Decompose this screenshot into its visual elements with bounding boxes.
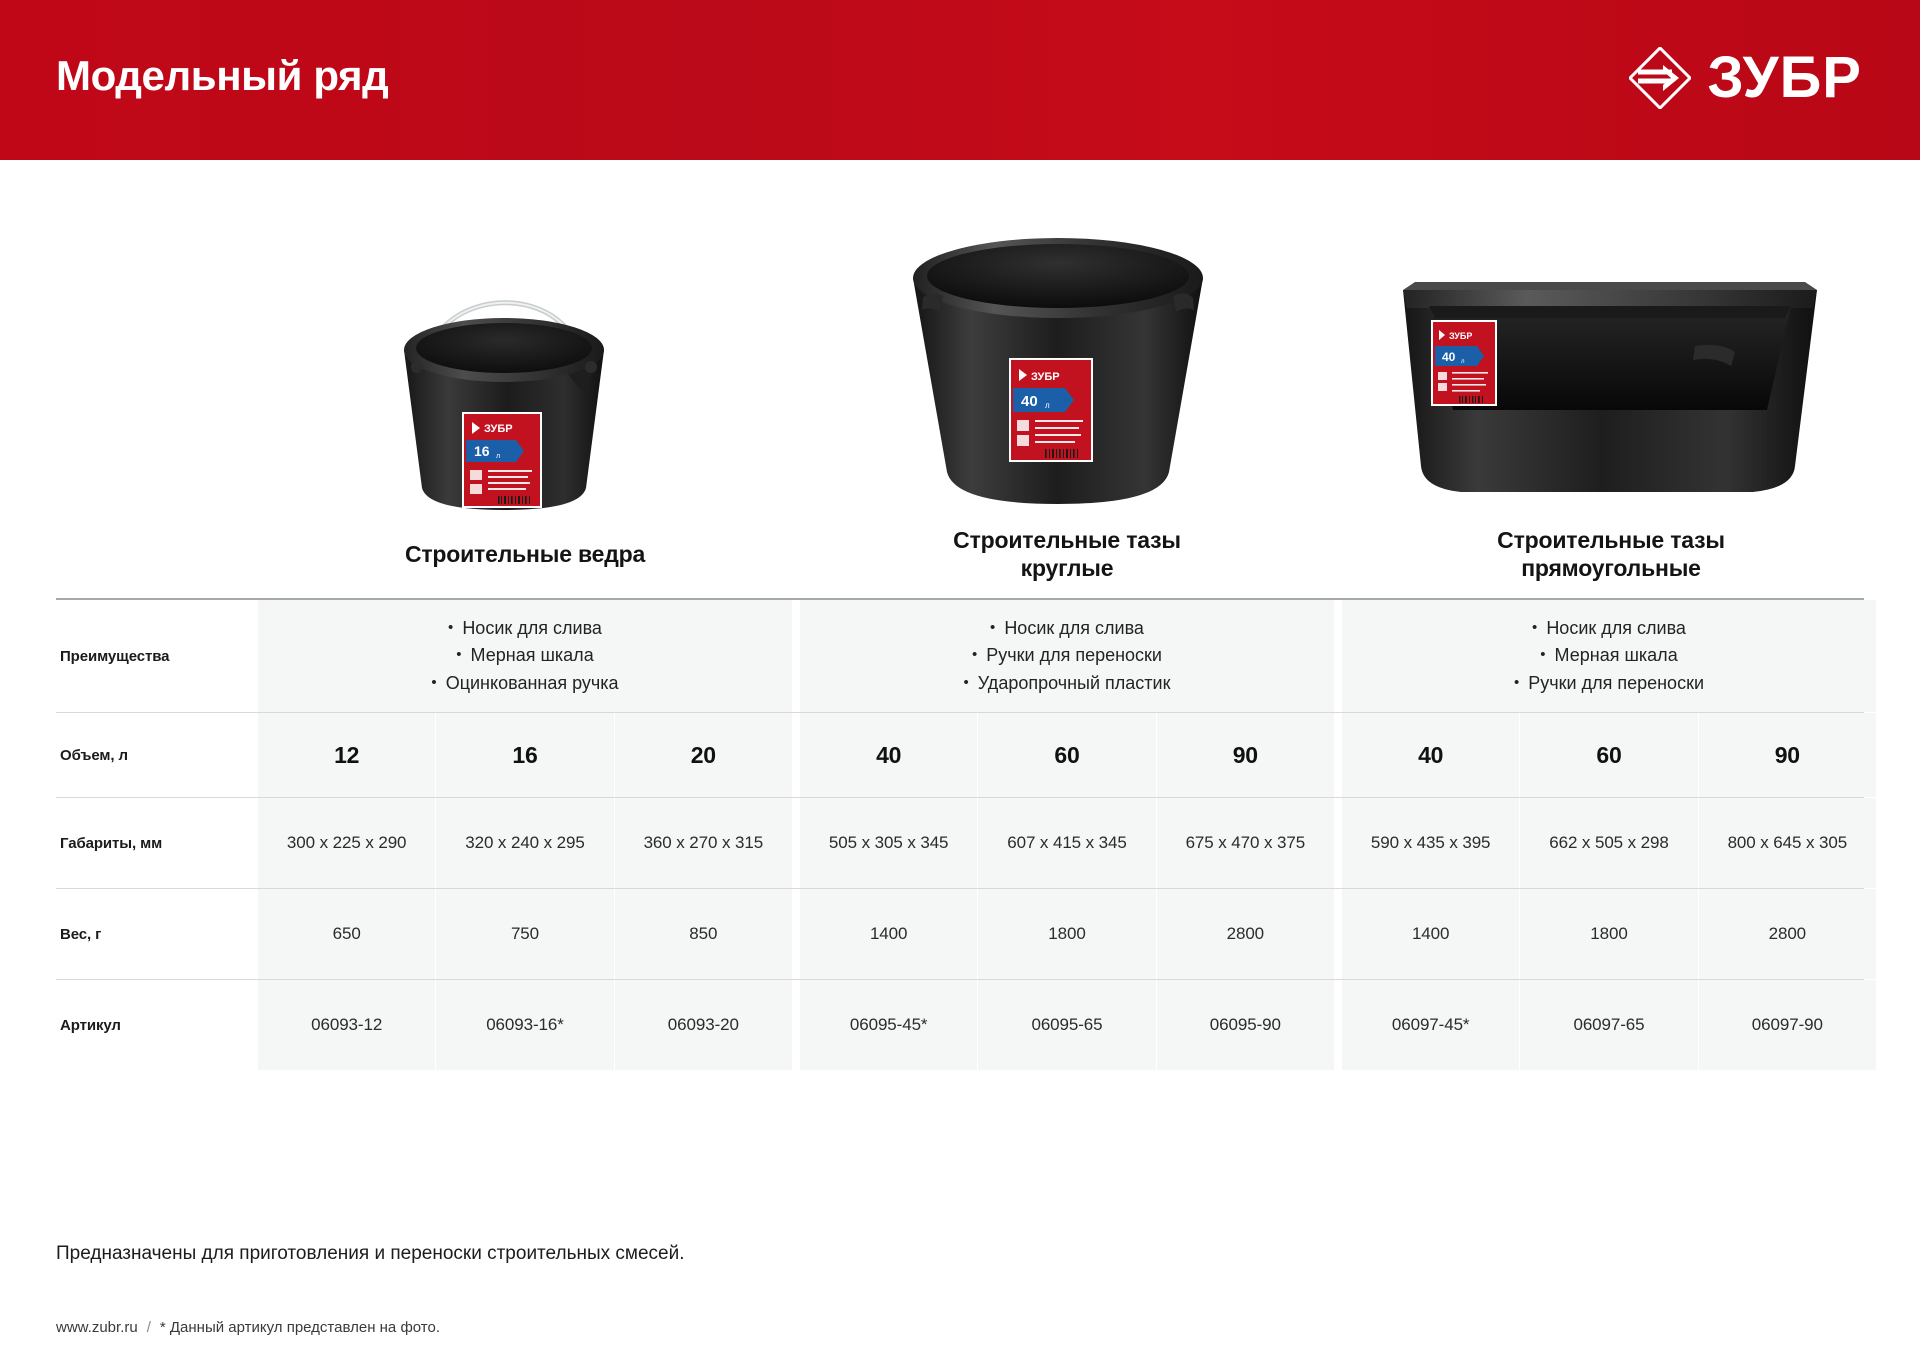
volume-value: 12 — [334, 742, 359, 769]
article-cell: 06095-45* — [800, 980, 977, 1070]
advantage-item: Оцинкованная ручка — [431, 670, 618, 697]
advantage-item: Носик для слива — [1514, 615, 1704, 642]
svg-text:л: л — [1045, 401, 1050, 410]
product-image-bucket: ЗУБР 16 л — [255, 160, 785, 520]
dimensions-cell: 360 x 270 x 315 — [614, 798, 792, 888]
footer-note: Предназначены для приготовления и перено… — [56, 1243, 684, 1265]
advantage-item: Ручки для переноски — [964, 642, 1171, 669]
weight-cell: 1400 — [800, 889, 977, 979]
group-cells-buckets: 650 750 850 — [258, 889, 792, 979]
article-value: 06097-65 — [1573, 1015, 1644, 1035]
article-value: 06095-65 — [1031, 1015, 1102, 1035]
row-label-dimensions: Габариты, мм — [56, 798, 258, 888]
volume-cell: 16 — [435, 713, 613, 797]
advantages-list: Носик для слива Мерная шкала Оцинкованна… — [431, 615, 618, 697]
weight-value: 1400 — [1412, 924, 1449, 944]
weight-cell: 750 — [435, 889, 613, 979]
group-title-line1: Строительные тазы — [1344, 526, 1878, 554]
weight-value: 850 — [689, 924, 717, 944]
weight-value: 750 — [511, 924, 539, 944]
product-image-strip: ЗУБР 16 л — [0, 160, 1920, 520]
zubr-diamond-logo-icon — [1629, 47, 1691, 109]
article-cell: 06093-20 — [614, 980, 792, 1070]
group-title-round-basins: Строительные тазы круглые — [800, 526, 1334, 582]
article-cell: 06097-65 — [1519, 980, 1697, 1070]
dimensions-cell: 300 x 225 x 290 — [258, 798, 435, 888]
article-value: 06093-12 — [311, 1015, 382, 1035]
volume-value: 40 — [876, 742, 901, 769]
article-cell: 06093-12 — [258, 980, 435, 1070]
advantage-item: Мерная шкала — [1514, 642, 1704, 669]
advantages-list: Носик для слива Ручки для переноски Удар… — [964, 615, 1171, 697]
article-value: 06097-90 — [1752, 1015, 1823, 1035]
weight-cell: 1800 — [977, 889, 1155, 979]
weight-value: 1800 — [1590, 924, 1627, 944]
group-cells-round-basins: 1400 1800 2800 — [800, 889, 1334, 979]
volume-value: 40 — [1418, 742, 1443, 769]
group-title-rect-basins: Строительные тазы прямоугольные — [1344, 526, 1878, 582]
page-header: Модельный ряд ЗУБР — [0, 0, 1920, 160]
volume-cell: 20 — [614, 713, 792, 797]
volume-value: 60 — [1596, 742, 1621, 769]
group-cells-buckets: 12 16 20 — [258, 713, 792, 797]
volume-cell: 90 — [1156, 713, 1334, 797]
advantages-cell-buckets: Носик для слива Мерная шкала Оцинкованна… — [258, 600, 792, 712]
group-cells-round-basins: 40 60 90 — [800, 713, 1334, 797]
article-value: 06095-45* — [850, 1015, 928, 1035]
group-cells-buckets: 06093-12 06093-16* 06093-20 — [258, 980, 792, 1070]
svg-text:л: л — [1461, 359, 1465, 365]
article-cell: 06097-45* — [1342, 980, 1519, 1070]
table-row-advantages: Преимущества Носик для слива Мерная шкал… — [56, 598, 1864, 712]
svg-text:40: 40 — [1442, 350, 1456, 364]
article-cell: 06095-65 — [977, 980, 1155, 1070]
weight-cell: 2800 — [1698, 889, 1876, 979]
volume-value: 20 — [691, 742, 716, 769]
row-label-advantages: Преимущества — [56, 600, 258, 712]
weight-value: 650 — [333, 924, 361, 944]
dimensions-cell: 607 x 415 x 345 — [977, 798, 1155, 888]
dimensions-cell: 505 x 305 x 345 — [800, 798, 977, 888]
volume-cell: 12 — [258, 713, 435, 797]
weight-value: 2800 — [1227, 924, 1264, 944]
volume-value: 90 — [1233, 742, 1258, 769]
dimensions-cell: 662 x 505 x 298 — [1519, 798, 1697, 888]
table-row-article: Артикул 06093-12 06093-16* 06093-20 0609… — [56, 979, 1864, 1070]
footer-separator: / — [147, 1319, 151, 1336]
advantage-item: Ударопрочный пластик — [964, 670, 1171, 697]
round-basin-illustration: ЗУБР 40 л — [893, 220, 1223, 520]
table-row-dimensions: Габариты, мм 300 x 225 x 290 320 x 240 x… — [56, 797, 1864, 888]
group-cells-buckets: 300 x 225 x 290 320 x 240 x 295 360 x 27… — [258, 798, 792, 888]
rect-basin-product-label: ЗУБР 40 л — [1431, 320, 1497, 406]
volume-value: 16 — [512, 742, 537, 769]
rect-basin-illustration: ЗУБР 40 л — [1395, 260, 1825, 520]
svg-text:л: л — [496, 453, 500, 460]
volume-cell: 40 — [1342, 713, 1519, 797]
group-cells-rect-basins: 1400 1800 2800 — [1342, 889, 1876, 979]
svg-text:ЗУБР: ЗУБР — [484, 423, 513, 435]
group-title-line1: Строительные тазы — [800, 526, 1334, 554]
group-title-line2: круглые — [800, 554, 1334, 582]
row-label-weight: Вес, г — [56, 889, 258, 979]
dimensions-value: 607 x 415 x 345 — [1007, 833, 1126, 853]
volume-cell: 90 — [1698, 713, 1876, 797]
volume-value: 60 — [1054, 742, 1079, 769]
row-label-article: Артикул — [56, 980, 258, 1070]
advantages-cell-round-basins: Носик для слива Ручки для переноски Удар… — [800, 600, 1334, 712]
article-value: 06093-16* — [486, 1015, 564, 1035]
group-cells-round-basins: Носик для слива Ручки для переноски Удар… — [800, 600, 1334, 712]
volume-value: 90 — [1775, 742, 1800, 769]
dimensions-value: 300 x 225 x 290 — [287, 833, 406, 853]
group-cells-rect-basins: Носик для слива Мерная шкала Ручки для п… — [1342, 600, 1876, 712]
specifications-table: Преимущества Носик для слива Мерная шкал… — [0, 598, 1920, 1070]
round-basin-product-label: ЗУБР 40 л — [1009, 358, 1093, 462]
svg-text:ЗУБР: ЗУБР — [1449, 331, 1472, 341]
article-value: 06095-90 — [1210, 1015, 1281, 1035]
article-cell: 06093-16* — [435, 980, 613, 1070]
group-cells-rect-basins: 590 x 435 x 395 662 x 505 x 298 800 x 64… — [1342, 798, 1876, 888]
table-row-volume: Объем, л 12 16 20 40 60 90 40 60 90 — [56, 712, 1864, 797]
advantages-list: Носик для слива Мерная шкала Ручки для п… — [1514, 615, 1704, 697]
group-cells-buckets: Носик для слива Мерная шкала Оцинкованна… — [258, 600, 792, 712]
dimensions-cell: 800 x 645 x 305 — [1698, 798, 1876, 888]
dimensions-cell: 590 x 435 x 395 — [1342, 798, 1519, 888]
advantage-item: Ручки для переноски — [1514, 670, 1704, 697]
svg-text:16: 16 — [474, 443, 490, 459]
weight-value: 2800 — [1769, 924, 1806, 944]
weight-cell: 2800 — [1156, 889, 1334, 979]
group-cells-round-basins: 06095-45* 06095-65 06095-90 — [800, 980, 1334, 1070]
volume-cell: 60 — [977, 713, 1155, 797]
dimensions-value: 800 x 645 x 305 — [1728, 833, 1847, 853]
page-title: Модельный ряд — [56, 55, 388, 97]
footer-disclaimer: * Данный артикул представлен на фото. — [160, 1319, 440, 1336]
article-cell: 06095-90 — [1156, 980, 1334, 1070]
dimensions-value: 320 x 240 x 295 — [465, 833, 584, 853]
dimensions-value: 360 x 270 x 315 — [644, 833, 763, 853]
group-cells-rect-basins: 40 60 90 — [1342, 713, 1876, 797]
advantages-cell-rect-basins: Носик для слива Мерная шкала Ручки для п… — [1342, 600, 1876, 712]
dimensions-value: 662 x 505 x 298 — [1549, 833, 1668, 853]
group-cells-rect-basins: 06097-45* 06097-65 06097-90 — [1342, 980, 1876, 1070]
brand-logo: ЗУБР — [1629, 47, 1862, 109]
group-cells-round-basins: 505 x 305 x 345 607 x 415 x 345 675 x 47… — [800, 798, 1334, 888]
product-image-rect-basin: ЗУБР 40 л — [1330, 160, 1890, 520]
row-label-volume: Объем, л — [56, 713, 258, 797]
footer-meta: www.zubr.ru / * Данный артикул представл… — [56, 1319, 440, 1336]
advantage-item: Носик для слива — [964, 615, 1171, 642]
dimensions-value: 505 x 305 x 345 — [829, 833, 948, 853]
advantage-item: Носик для слива — [431, 615, 618, 642]
group-title-line2: прямоугольные — [1344, 554, 1878, 582]
product-image-round-basin: ЗУБР 40 л — [785, 160, 1330, 520]
weight-cell: 650 — [258, 889, 435, 979]
weight-value: 1400 — [870, 924, 907, 944]
dimensions-cell: 320 x 240 x 295 — [435, 798, 613, 888]
dimensions-cell: 675 x 470 x 375 — [1156, 798, 1334, 888]
group-titles: Строительные ведра Строительные тазы кру… — [0, 520, 1920, 598]
website-link[interactable]: www.zubr.ru — [56, 1319, 138, 1336]
model-range-page: Модельный ряд ЗУБР — [0, 0, 1920, 1357]
svg-text:40: 40 — [1021, 393, 1038, 410]
brand-wordmark: ЗУБР — [1707, 49, 1862, 107]
dimensions-value: 675 x 470 x 375 — [1186, 833, 1305, 853]
weight-cell: 850 — [614, 889, 792, 979]
volume-cell: 40 — [800, 713, 977, 797]
advantage-item: Мерная шкала — [431, 642, 618, 669]
weight-value: 1800 — [1048, 924, 1085, 944]
weight-cell: 1800 — [1519, 889, 1697, 979]
svg-text:ЗУБР: ЗУБР — [1031, 371, 1060, 383]
group-title-buckets: Строительные ведра — [258, 540, 792, 568]
article-cell: 06097-90 — [1698, 980, 1876, 1070]
table-row-weight: Вес, г 650 750 850 1400 1800 2800 1400 1… — [56, 888, 1864, 979]
article-value: 06093-20 — [668, 1015, 739, 1035]
article-value: 06097-45* — [1392, 1015, 1470, 1035]
weight-cell: 1400 — [1342, 889, 1519, 979]
volume-cell: 60 — [1519, 713, 1697, 797]
group-title-line1: Строительные ведра — [258, 540, 792, 568]
dimensions-value: 590 x 435 x 395 — [1371, 833, 1490, 853]
bucket-product-label: ЗУБР 16 л — [462, 412, 542, 508]
bucket-illustration: ЗУБР 16 л — [370, 220, 670, 520]
